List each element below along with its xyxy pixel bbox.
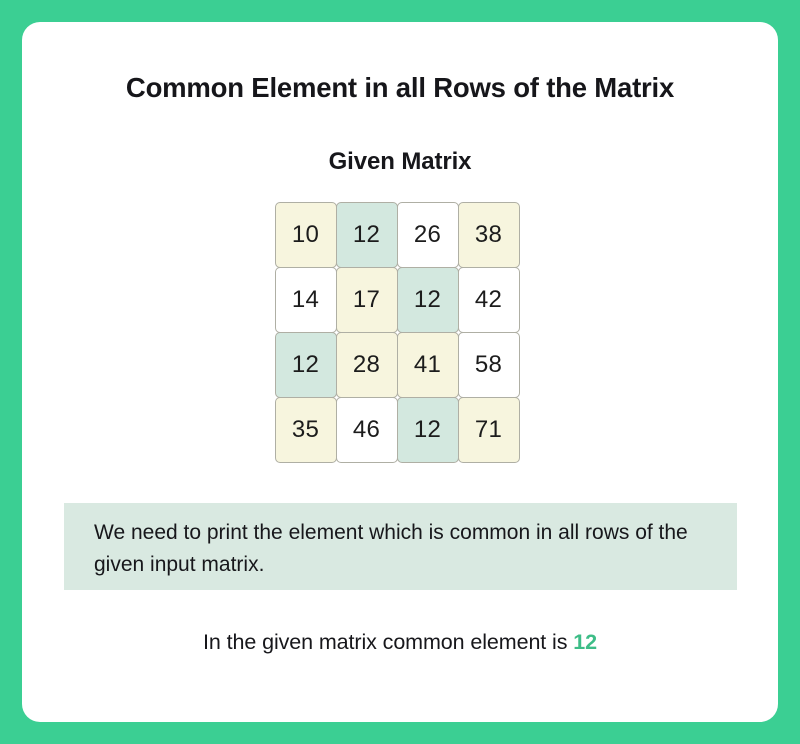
conclusion-prefix: In the given matrix common element is — [203, 630, 573, 654]
conclusion-answer: 12 — [573, 630, 597, 654]
matrix-cell: 41 — [397, 332, 459, 398]
conclusion-line: In the given matrix common element is 12 — [22, 630, 778, 655]
page-title: Common Element in all Rows of the Matrix — [22, 72, 778, 104]
matrix-cell: 71 — [458, 397, 520, 463]
matrix-heading: Given Matrix — [22, 148, 778, 176]
matrix-cell: 12 — [336, 202, 398, 268]
explanation-box: We need to print the element which is co… — [64, 503, 737, 590]
matrix-row: 12 28 41 58 — [275, 332, 525, 397]
matrix-cell: 14 — [275, 267, 337, 333]
matrix-cell: 17 — [336, 267, 398, 333]
matrix-cell: 35 — [275, 397, 337, 463]
matrix-cell: 12 — [397, 267, 459, 333]
matrix-row: 35 46 12 71 — [275, 397, 525, 462]
matrix-cell: 46 — [336, 397, 398, 463]
matrix-cell: 28 — [336, 332, 398, 398]
matrix-row: 10 12 26 38 — [275, 202, 525, 267]
matrix-cell: 12 — [275, 332, 337, 398]
matrix-cell: 42 — [458, 267, 520, 333]
matrix-row: 14 17 12 42 — [275, 267, 525, 332]
matrix-cell: 26 — [397, 202, 459, 268]
matrix-cell: 58 — [458, 332, 520, 398]
matrix-cell: 10 — [275, 202, 337, 268]
given-matrix: 10 12 26 38 14 17 12 42 12 28 41 58 35 4… — [275, 202, 525, 462]
content-card: Common Element in all Rows of the Matrix… — [22, 22, 778, 722]
matrix-cell: 38 — [458, 202, 520, 268]
matrix-cell: 12 — [397, 397, 459, 463]
